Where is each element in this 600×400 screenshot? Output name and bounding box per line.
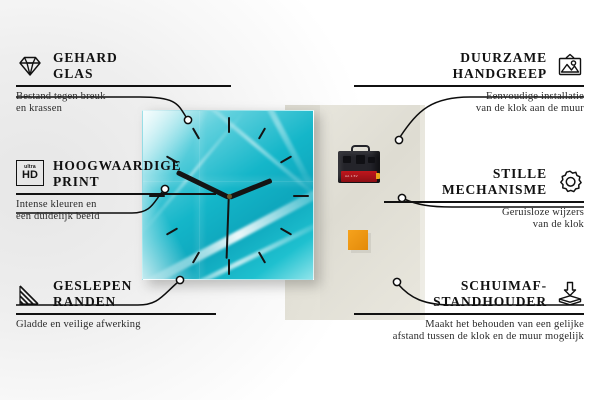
picture-frame-hanger-icon <box>556 52 584 80</box>
clock-second-hand <box>226 197 230 259</box>
clock-tick-3 <box>293 195 309 197</box>
clock-mechanism: AA 1.5V <box>338 145 380 183</box>
feature-hoogwaardige-print: ultra HD HOOGWAARDIGEPRINT Intense kleur… <box>16 158 216 224</box>
battery-label: AA 1.5V <box>345 174 358 178</box>
feature-title: GEHARDGLAS <box>53 50 118 81</box>
ultra-hd-icon: ultra HD <box>16 160 44 188</box>
infographic-canvas: AA 1.5V <box>0 0 600 400</box>
feature-duurzame-handgreep: DUURZAMEHANDGREEP Eenvoudige installatie… <box>354 50 584 116</box>
feature-title: SCHUIMAF-STANDHOUDER <box>433 278 547 309</box>
clock-tick-6 <box>228 259 230 275</box>
clock-tick-12 <box>228 117 230 133</box>
feature-divider <box>354 85 584 87</box>
feature-title: DUURZAMEHANDGREEP <box>453 50 547 81</box>
mechanism-nub <box>368 157 375 163</box>
feature-description: Gladde en veilige afwerking <box>16 319 216 332</box>
battery: AA 1.5V <box>341 171 377 182</box>
mechanism-nub <box>343 156 351 163</box>
feature-divider <box>384 201 584 203</box>
mechanism-nub <box>356 155 365 164</box>
feature-stille-mechanisme: STILLEMECHANISME Geruisloze wijzersvan d… <box>384 166 584 232</box>
feature-description: Eenvoudige installatievan de klok aan de… <box>354 91 584 116</box>
battery-terminal <box>376 173 380 179</box>
feature-geslepen-randen: GESLEPENRANDEN Gladde en veilige afwerki… <box>16 278 216 331</box>
foam-spacer-pad <box>348 230 368 250</box>
feature-gehard-glas: GEHARDGLAS Bestand tegen breuken krassen <box>16 50 231 116</box>
clock-tick-4 <box>280 227 292 235</box>
clock-tick-8 <box>166 227 178 235</box>
feature-description: Geruisloze wijzersvan de klok <box>384 207 584 232</box>
clock-tick-2 <box>280 155 292 163</box>
clock-tick-1 <box>258 127 266 139</box>
feature-schuimaf-standhouder: SCHUIMAF-STANDHOUDER Maakt het behouden … <box>354 278 584 344</box>
feature-description: Intense kleuren eneen duidelijk beeld <box>16 199 216 224</box>
mechanism-body: AA 1.5V <box>338 151 380 183</box>
feature-title: HOOGWAARDIGEPRINT <box>53 158 182 189</box>
hd-label: HD <box>22 170 38 181</box>
diamond-icon <box>16 52 44 80</box>
feature-divider <box>16 193 216 195</box>
foam-spacer-icon <box>556 280 584 308</box>
feature-title: GESLEPENRANDEN <box>53 278 132 309</box>
feature-title: STILLEMECHANISME <box>442 166 547 197</box>
feature-divider <box>16 313 216 315</box>
feature-description: Bestand tegen breuken krassen <box>16 91 231 116</box>
feature-description: Maakt het behouden van een gelijkeafstan… <box>354 319 584 344</box>
feature-divider <box>354 313 584 315</box>
gear-icon <box>556 168 584 196</box>
clock-center-pin <box>227 194 232 199</box>
beveled-edges-icon <box>16 280 44 308</box>
feather-streak <box>240 110 314 192</box>
feature-divider <box>16 85 231 87</box>
